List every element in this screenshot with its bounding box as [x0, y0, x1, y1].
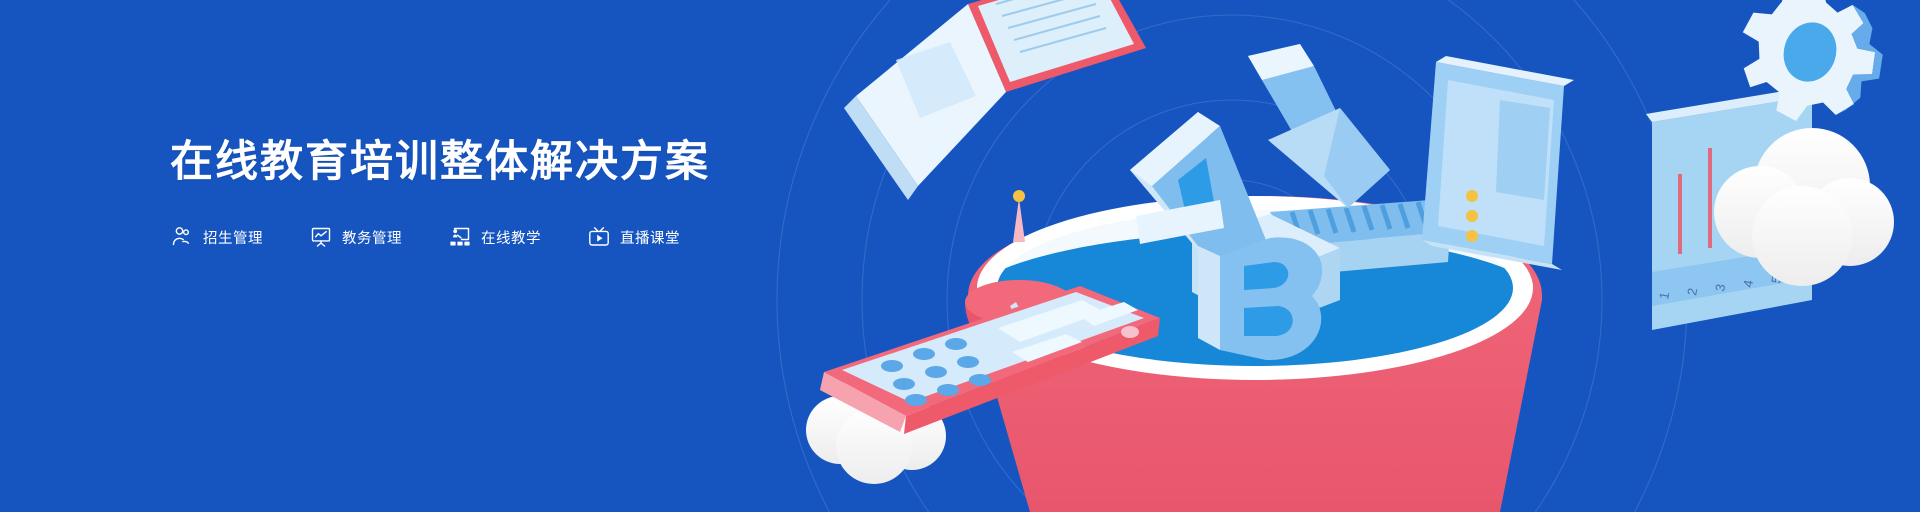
feature-item-enrollment[interactable]: 招生管理 [170, 225, 263, 249]
open-book [844, 0, 1146, 200]
feature-label: 招生管理 [203, 227, 263, 248]
feature-item-online-teaching[interactable]: 在线教学 [448, 225, 541, 249]
feature-item-live-class[interactable]: 直播课堂 [587, 225, 680, 249]
teacher-board-icon [448, 225, 472, 249]
feature-item-academic-affairs[interactable]: 教务管理 [309, 225, 402, 249]
chart-board-icon [309, 225, 333, 249]
tv-play-icon [587, 225, 611, 249]
illustration: 1 2 3 4 5 [800, 0, 1920, 512]
feature-list: 招生管理 教务管理 [170, 225, 870, 249]
page-title: 在线教育培训整体解决方案 [170, 138, 870, 187]
monitor-screen [1422, 56, 1574, 270]
feature-label: 在线教学 [481, 227, 541, 248]
banner-content: 在线教育培训整体解决方案 招生管理 [170, 138, 870, 249]
user-group-icon [170, 225, 194, 249]
education-hero-banner: 1 2 3 4 5 [0, 0, 1920, 512]
feature-label: 直播课堂 [620, 227, 680, 248]
feature-label: 教务管理 [342, 227, 402, 248]
